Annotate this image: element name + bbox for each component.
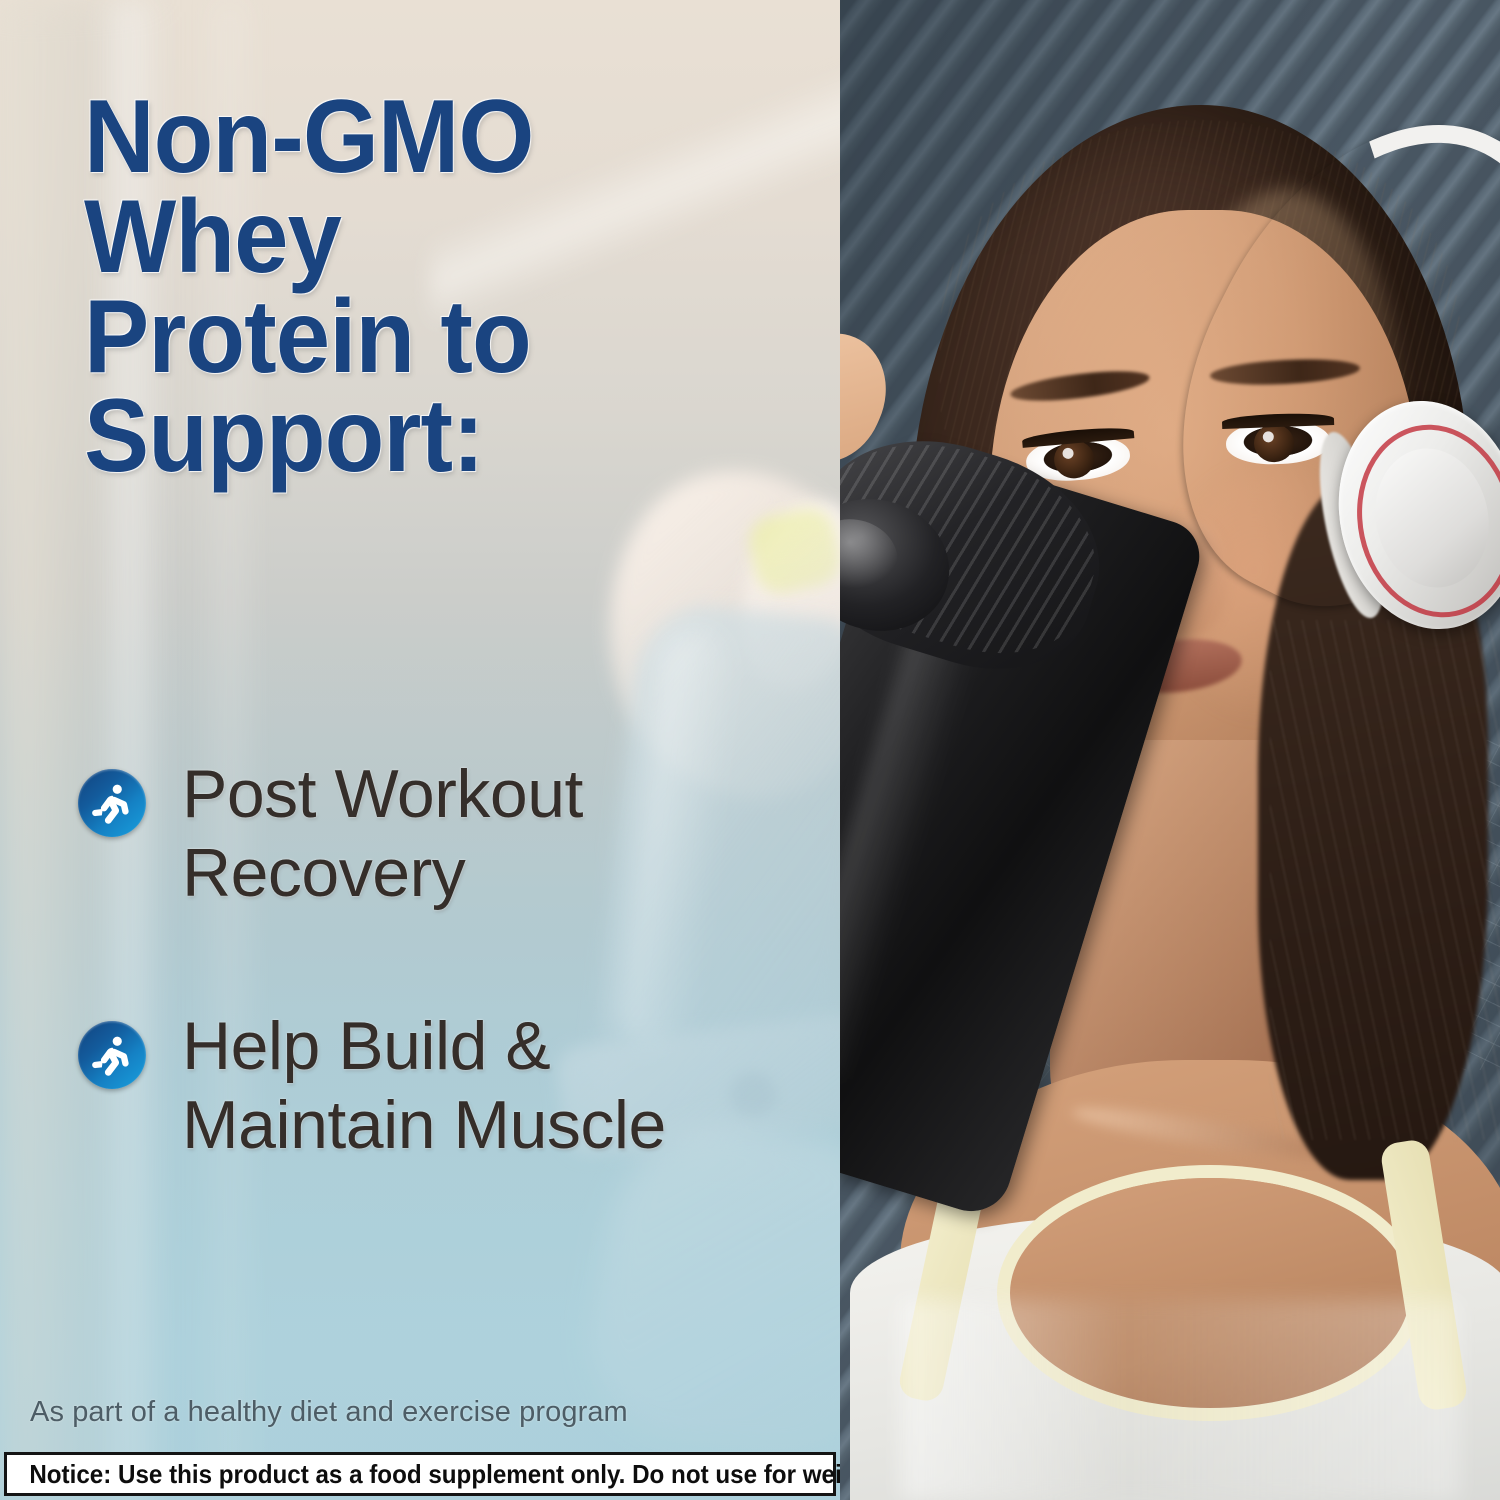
headline: Non-GMO Whey Protein to Support: — [84, 88, 742, 487]
benefit-label: Help Build & Maintain Muscle — [182, 1007, 666, 1165]
tank-top-folds — [900, 1300, 1460, 1500]
headline-line-4: Support: — [84, 387, 742, 487]
headline-line-3: Protein to — [84, 288, 742, 388]
headline-line-1: Non-GMO — [84, 88, 742, 188]
notice-bar: Notice: Use this product as a food suppl… — [4, 1452, 836, 1496]
benefit-list: Post Workout Recovery Help Build & Maint… — [78, 755, 798, 1165]
benefit-1-line-2: Recovery — [182, 834, 583, 913]
hair-wisps — [1270, 620, 1500, 1140]
headline-line-2: Whey — [84, 188, 742, 288]
iris-left — [1053, 439, 1096, 480]
benefit-label: Post Workout Recovery — [182, 755, 583, 913]
running-figure-icon — [78, 1021, 146, 1089]
promo-canvas: Non-GMO Whey Protein to Support: Post Wo… — [0, 0, 1500, 1500]
running-figure-icon — [78, 769, 146, 837]
benefit-2-line-2: Maintain Muscle — [182, 1086, 666, 1165]
benefit-1-line-1: Post Workout — [182, 755, 583, 834]
benefit-item-post-workout-recovery: Post Workout Recovery — [78, 755, 798, 913]
lifestyle-photo — [840, 0, 1500, 1500]
benefit-2-line-1: Help Build & — [182, 1007, 666, 1086]
disclaimer-text: As part of a healthy diet and exercise p… — [30, 1396, 628, 1429]
benefit-item-help-build-maintain-muscle: Help Build & Maintain Muscle — [78, 1007, 798, 1165]
